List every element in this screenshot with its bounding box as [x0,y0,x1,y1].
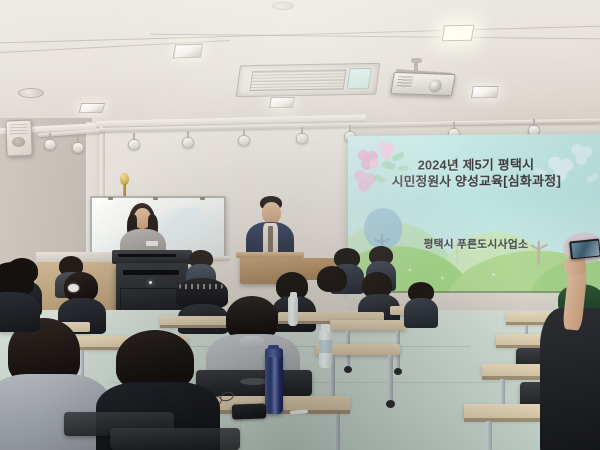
name-badge [146,241,158,246]
wooden-podium-top [236,252,304,258]
recessed-downlight [269,97,295,108]
ceiling [0,0,600,132]
hair-pin [68,284,79,292]
blue-thermos [265,352,283,414]
speaker-tie [268,226,273,252]
track-light-lamp [72,136,84,154]
track-light-lamp [44,133,56,151]
lecture-hall-photo: 2024년 제5기 평택시 시민정원사 양성교육[심화과정] 평택시 푸른도시사… [0,0,600,450]
bottle-label [319,340,332,353]
wall-speaker [5,120,32,157]
chair [110,428,240,450]
track-light-lamp [296,127,308,145]
recessed-downlight [173,44,204,59]
track-light-lamp [182,131,194,149]
recessed-downlight [442,25,475,42]
hat-band [179,284,223,289]
smartphone-on-desk [232,403,267,419]
audience-member [0,262,38,326]
bottle-cap [290,292,297,298]
thermos-latch [268,345,279,349]
desk [330,320,406,330]
thermos-cap [265,348,283,357]
track-light-lamp [238,129,250,147]
short-dark-hair [116,330,194,390]
audience-member [404,282,438,326]
lectern-top [112,250,192,264]
polo-collar [240,336,264,348]
speaker-head [262,202,281,224]
recessed-downlight [471,86,499,98]
bottle-cap [321,324,330,332]
recessed-downlight [79,103,105,113]
ceiling-air-conditioner [236,63,381,97]
ceiling-vent-small [272,2,294,10]
water-bottle [288,296,298,326]
projector [390,72,456,96]
smartphone-in-hand [569,238,600,259]
smoke-detector-icon [18,88,44,98]
track-light-lamp [128,133,140,151]
